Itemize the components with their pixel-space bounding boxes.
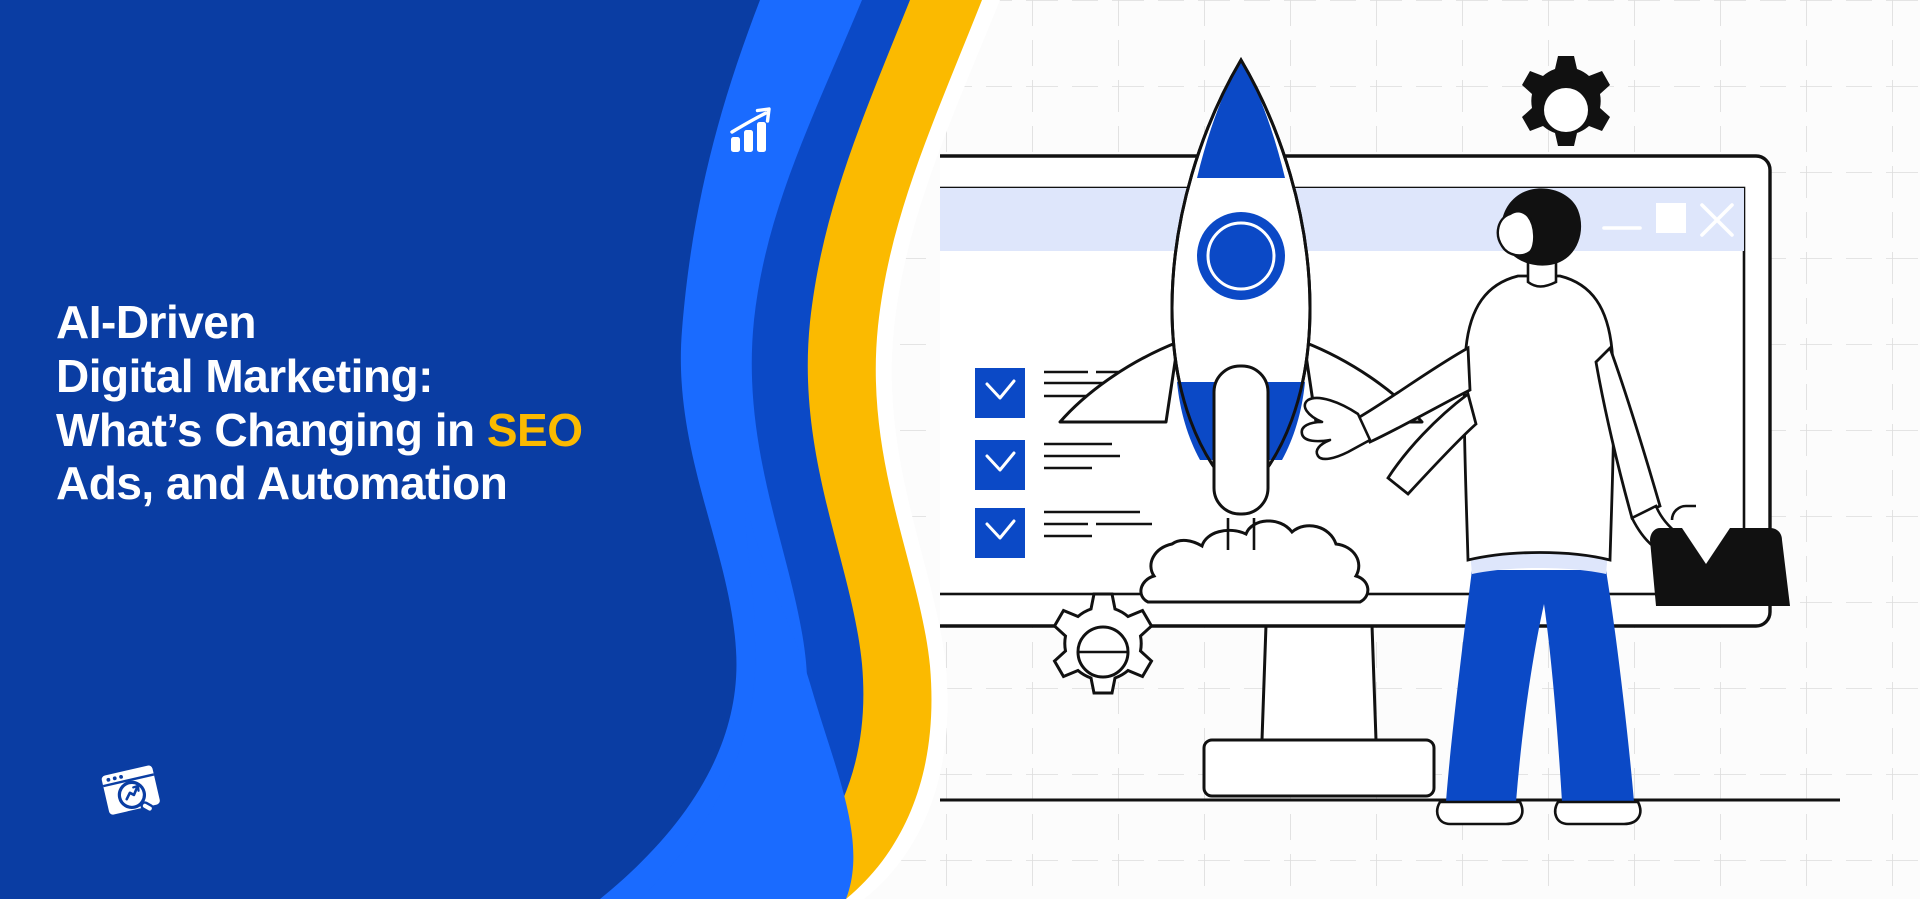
seo-browser-search-icon (100, 760, 162, 822)
headline-line-1: AI-Driven (56, 296, 776, 350)
person-pants (1446, 570, 1634, 802)
rocket-nozzle (1214, 366, 1268, 514)
checkbox-checked (975, 440, 1025, 490)
product-launch-illustration (940, 40, 1900, 870)
gear-filled-icon (1522, 56, 1610, 146)
banner-canvas: AI-Driven Digital Marketing: What’s Chan… (0, 0, 1920, 899)
checkbox-checked (975, 368, 1025, 418)
checkbox-checked (975, 508, 1025, 558)
shoe-left (1437, 802, 1522, 824)
browser-title-bar (940, 188, 1744, 250)
headline-line-3: What’s Changing in SEO (56, 404, 776, 458)
person-ear (1498, 211, 1534, 255)
monitor-stand (1204, 625, 1434, 796)
maximize-icon (1656, 203, 1686, 233)
headline-line-4: Ads, and Automation (56, 457, 776, 511)
bar-chart-growth-icon (728, 104, 782, 158)
shoe-right (1555, 802, 1640, 824)
headline-line-2: Digital Marketing: (56, 350, 776, 404)
headline-line-3-b: SEO (487, 404, 583, 456)
page-title: AI-Driven Digital Marketing: What’s Chan… (56, 296, 776, 511)
headline-line-3-a: What’s Changing in (56, 404, 487, 456)
rocket-porthole (1197, 212, 1285, 300)
person-shirt (1464, 276, 1613, 560)
